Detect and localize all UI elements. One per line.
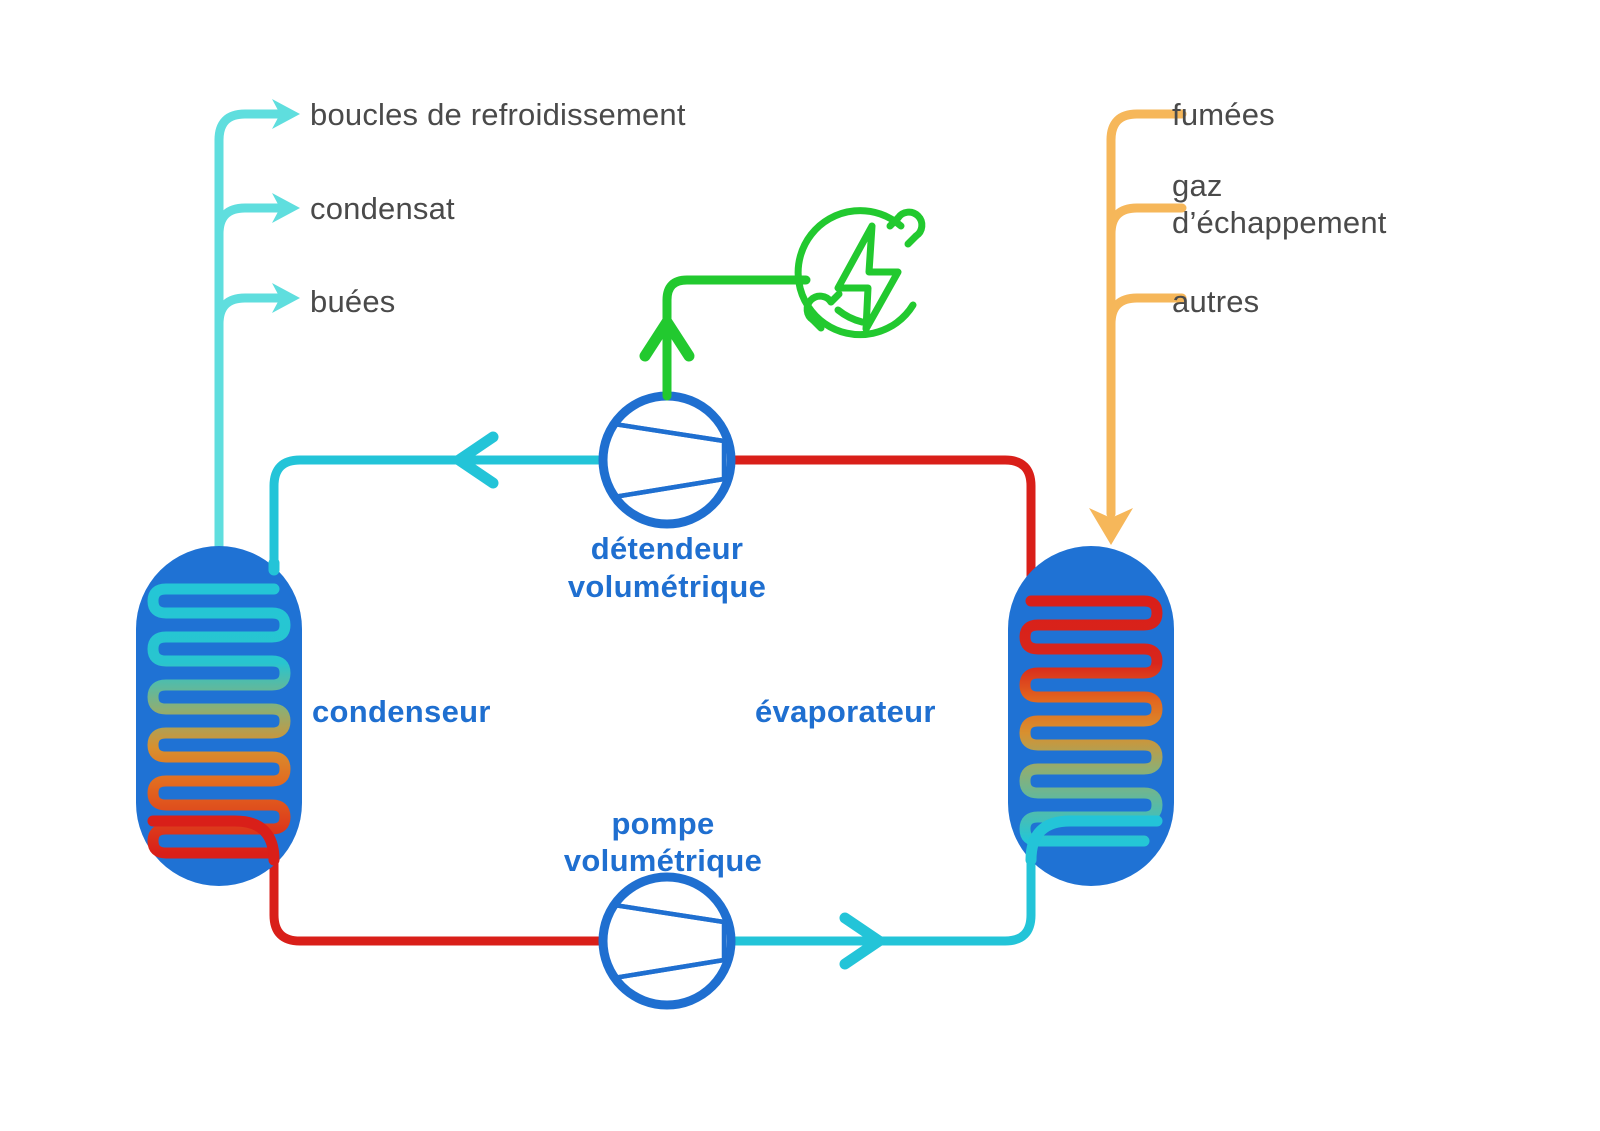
component-label-pompe-line2: volumétrique: [564, 843, 762, 880]
component-label-detendeur-line1: détendeur: [591, 531, 744, 568]
pump-machine[interactable]: [603, 877, 731, 1005]
expander-machine[interactable]: [603, 396, 731, 524]
component-label-condenseur: condenseur: [312, 694, 491, 731]
left-output-label-1: boucles de refroidissement: [310, 97, 686, 134]
component-label-detendeur-line2: volumétrique: [568, 569, 766, 606]
diagram-canvas: boucles de refroidissement condensat bué…: [0, 0, 1600, 1131]
right-input-label-2: gaz d’échappement: [1172, 168, 1387, 241]
component-label-pompe-line1: pompe: [611, 806, 714, 843]
left-output-label-3: buées: [310, 284, 395, 321]
plug-top-right-icon: [890, 212, 922, 244]
left-output-label-2: condensat: [310, 191, 455, 228]
right-input-label-3: autres: [1172, 284, 1259, 321]
electricity-plug-icon: [798, 211, 922, 335]
component-label-evaporateur: évaporateur: [755, 694, 936, 731]
electricity-link: [667, 280, 806, 396]
right-input-label-1: fumées: [1172, 97, 1275, 134]
